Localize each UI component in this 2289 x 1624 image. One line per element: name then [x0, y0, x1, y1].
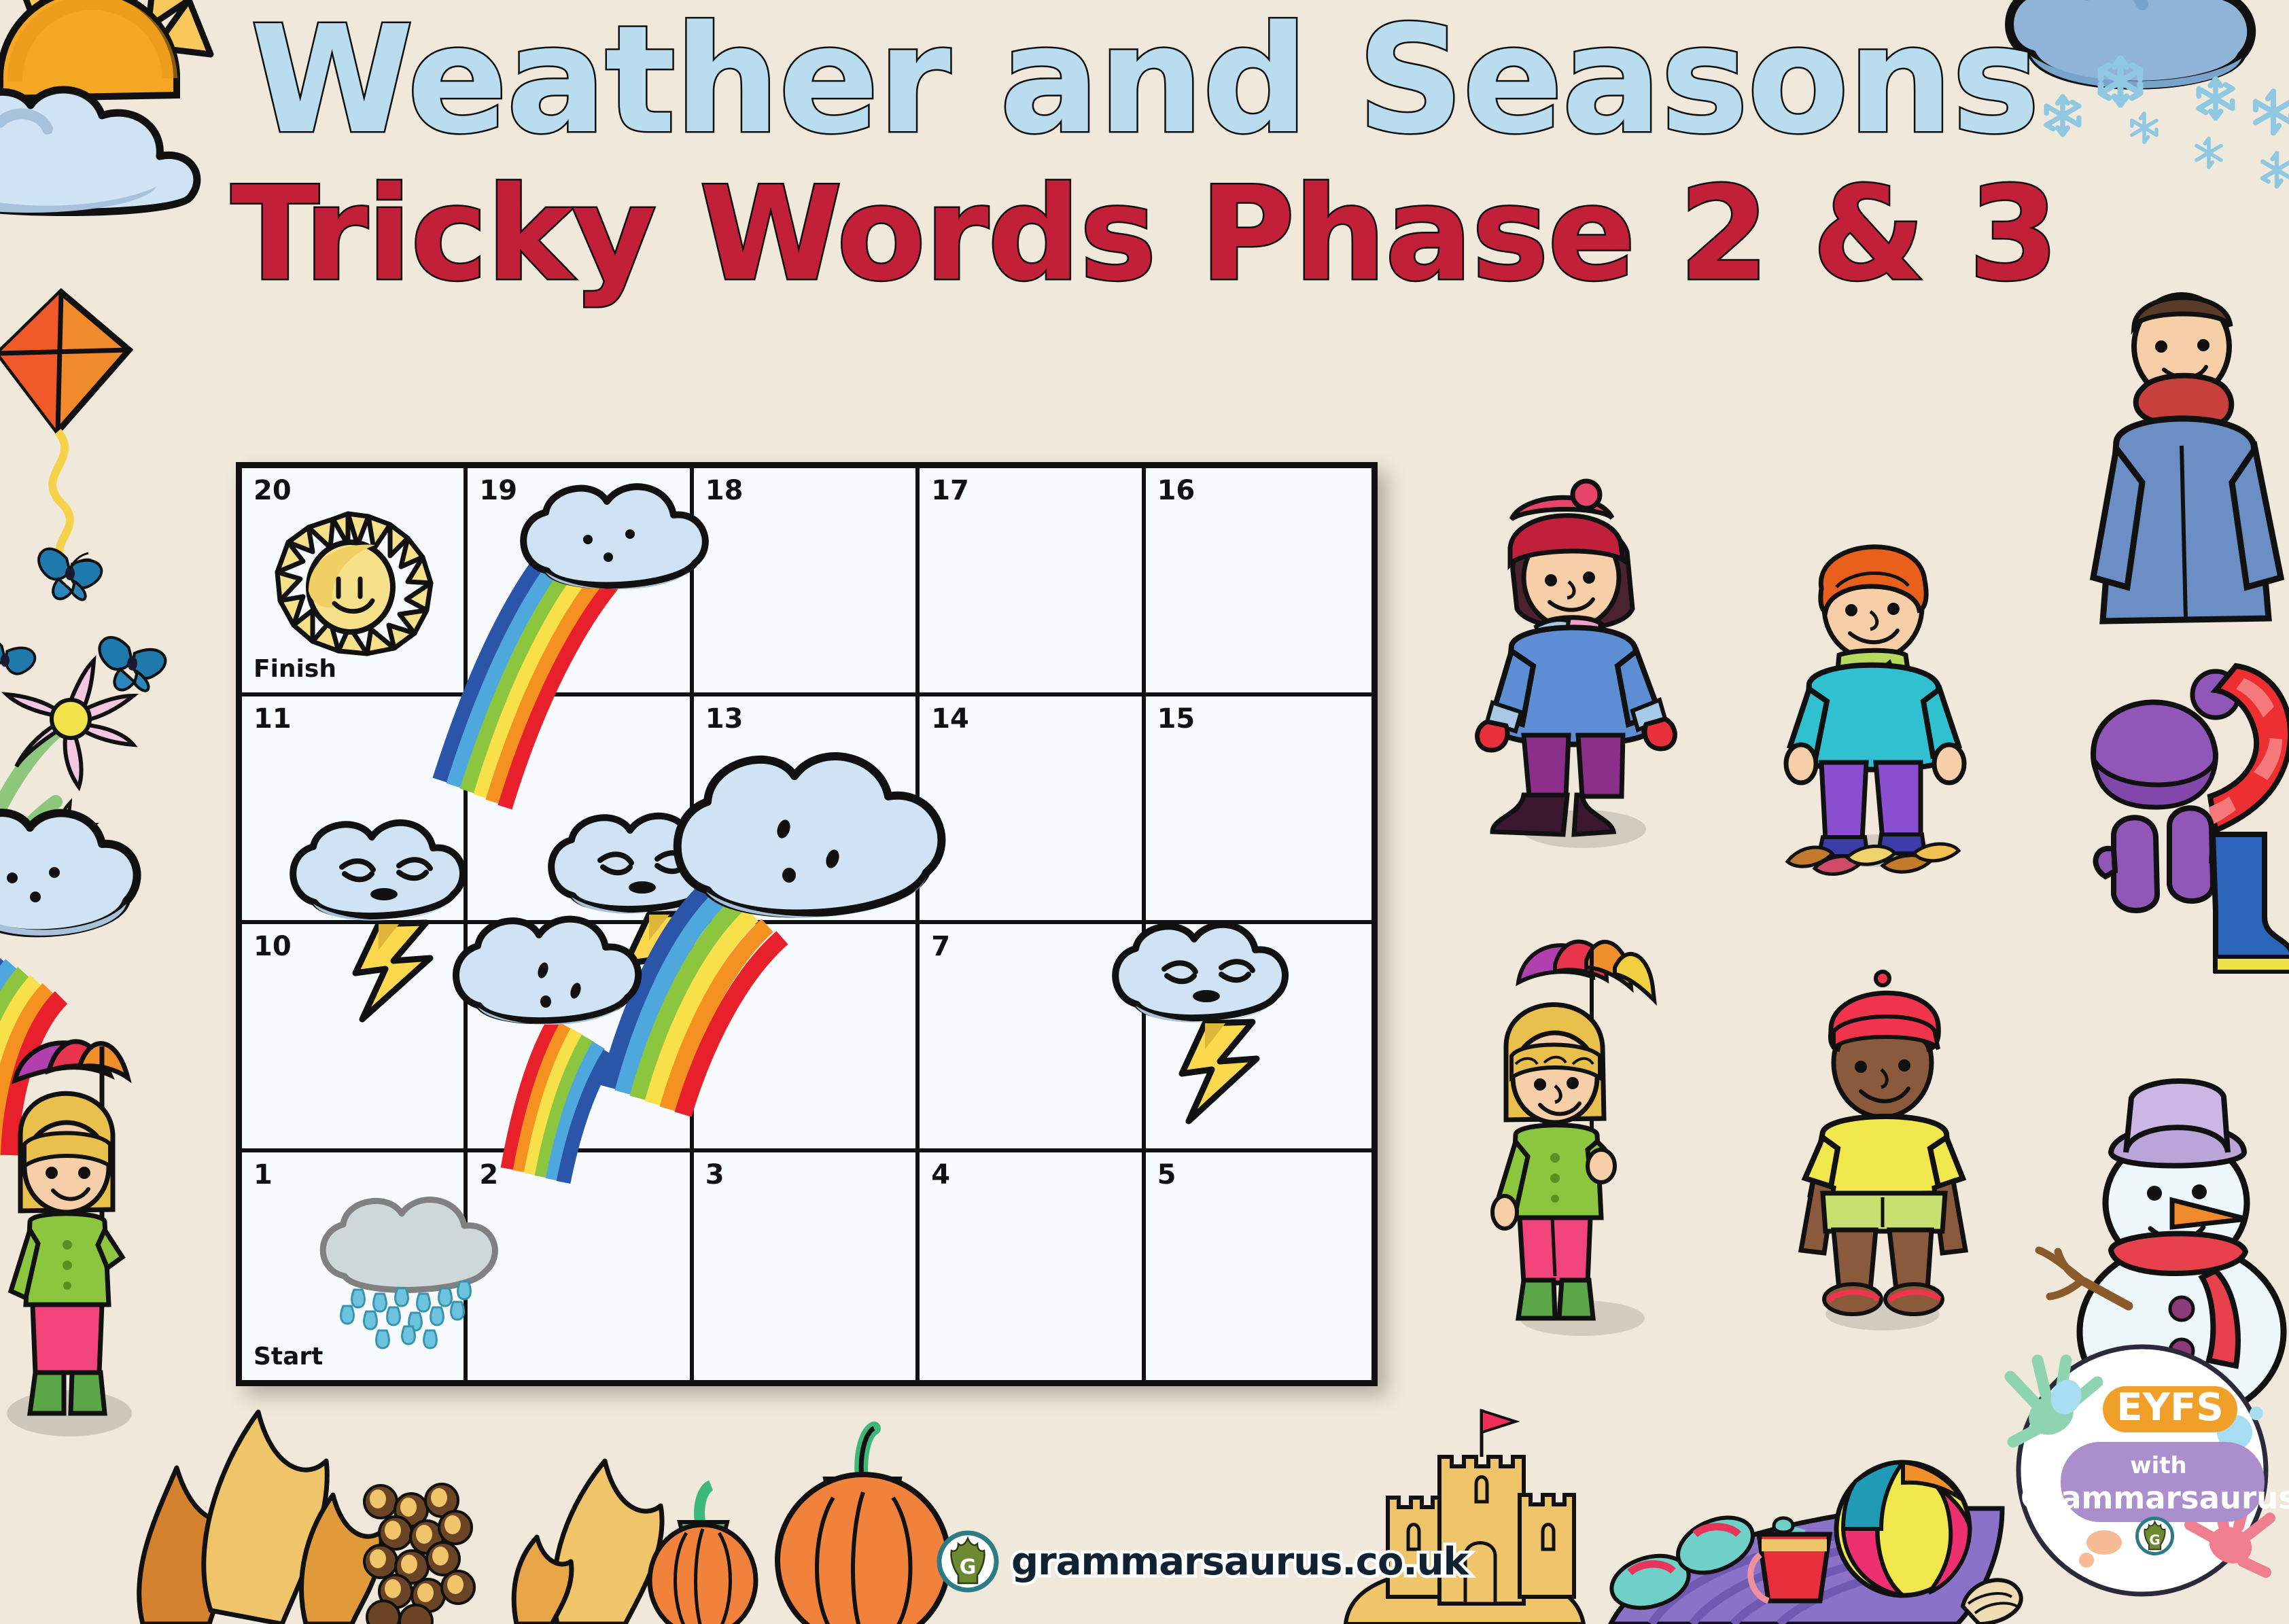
worksheet-canvas: Weather and Seasons Tricky Words Phase 2… [0, 0, 2289, 1619]
autumn-boy-character [1774, 523, 1978, 877]
cell-label-finish: Finish [254, 655, 336, 683]
cell-number: 12 [479, 703, 517, 735]
grammarsaurus-dino-logo-icon: G [937, 1530, 999, 1593]
board-cell-14[interactable]: 14 [920, 696, 1145, 925]
board-cell-1[interactable]: 1Start [242, 1152, 468, 1381]
board-cell-3[interactable]: 3 [694, 1152, 920, 1381]
board-cell-5[interactable]: 5 [1146, 1152, 1371, 1381]
kite-icon [0, 285, 190, 571]
spring-girl-character [1482, 938, 1699, 1345]
svg-text:G: G [2149, 1532, 2160, 1548]
page-title: Weather and Seasons [0, 7, 2289, 155]
board-cell-11[interactable]: 11 [242, 696, 468, 925]
board-cell-2[interactable]: 2 [468, 1152, 693, 1381]
summer-boy-character [1781, 951, 1985, 1339]
cell-number: 3 [705, 1159, 724, 1190]
board-cell-18[interactable]: 18 [694, 468, 920, 696]
cell-number: 1 [254, 1159, 273, 1190]
cell-number: 5 [1157, 1159, 1176, 1190]
cloud-icon [0, 90, 197, 213]
page-subtitle: Tricky Words Phase 2 & 3 [0, 170, 2289, 299]
grammarsaurus-dino-logo-icon: G [2137, 1518, 2172, 1553]
cell-number: 9 [479, 931, 498, 962]
board-cell-20[interactable]: 20Finish [242, 468, 468, 696]
brand-website-text: grammarsaurus.co.uk [1011, 1540, 1468, 1584]
conkers-icon [364, 1484, 474, 1624]
pumpkin-icon [650, 1428, 949, 1624]
winter-person-icon [2080, 224, 2289, 652]
blue-wellies-icon [2213, 834, 2289, 972]
cell-number: 13 [705, 703, 744, 735]
cell-number: 18 [705, 475, 744, 506]
board-cell-8[interactable]: 8 [694, 924, 920, 1152]
red-striped-scarf-icon [2209, 666, 2289, 830]
beach-ball-icon [1836, 1462, 1970, 1595]
game-board-grid[interactable]: 20Finish1918171611121314151098761Start23… [236, 462, 1378, 1386]
cell-number: 20 [254, 475, 292, 506]
cell-label-start: Start [254, 1343, 323, 1371]
autumn-harvest-decoration [136, 1379, 938, 1624]
board-cell-9[interactable]: 9 [468, 924, 693, 1152]
cell-number: 10 [254, 931, 292, 962]
cloud-icon [0, 813, 137, 936]
board-cell-12[interactable]: 12 [468, 696, 693, 925]
eyfs-badge: EYFS with Grammarsaurus G [1995, 1326, 2281, 1612]
board-cell-4[interactable]: 4 [920, 1152, 1145, 1381]
snow-cloud-decoration [2012, 0, 2289, 258]
butterfly-icon [39, 549, 101, 600]
cell-number: 14 [931, 703, 969, 735]
butterfly-icon [0, 637, 35, 673]
title-block: Weather and Seasons Tricky Words Phase 2… [0, 7, 2289, 299]
winter-girl-character [1482, 476, 1685, 856]
board-cell-13[interactable]: 13 [694, 696, 920, 925]
cell-number: 15 [1157, 703, 1195, 735]
spring-girl-umbrella-icon [0, 1033, 212, 1468]
cell-number: 11 [254, 703, 292, 735]
cell-number: 2 [479, 1159, 498, 1190]
board-cell-6[interactable]: 6 [1146, 924, 1371, 1152]
cell-number: 7 [931, 931, 950, 962]
purple-mittens-icon [2095, 808, 2231, 911]
cell-number: 8 [705, 931, 724, 962]
board-cell-15[interactable]: 15 [1146, 696, 1371, 925]
cell-number: 19 [479, 475, 517, 506]
cell-number: 17 [931, 475, 969, 506]
brand-footer[interactable]: G grammarsaurus.co.uk [937, 1530, 1468, 1593]
svg-text:G: G [960, 1555, 977, 1579]
cell-number: 6 [1157, 931, 1176, 962]
board-cell-17[interactable]: 17 [920, 468, 1145, 696]
with-text: with [2130, 1452, 2187, 1479]
board-cell-7[interactable]: 7 [920, 924, 1145, 1152]
winter-accessories-decoration [2012, 652, 2289, 992]
eyfs-pill-text: EYFS [2116, 1385, 2223, 1430]
board-cell-16[interactable]: 16 [1146, 468, 1371, 696]
board-cell-10[interactable]: 10 [242, 924, 468, 1152]
butterfly-icon [100, 637, 166, 691]
cell-number: 4 [931, 1159, 950, 1190]
sun-icon [0, 0, 211, 99]
grammarsaurus-text: Grammarsaurus [2021, 1480, 2289, 1516]
sun-cloud-decoration-top-left [0, 0, 292, 251]
board-cell-19[interactable]: 19 [468, 468, 693, 696]
cell-number: 16 [1157, 475, 1195, 506]
